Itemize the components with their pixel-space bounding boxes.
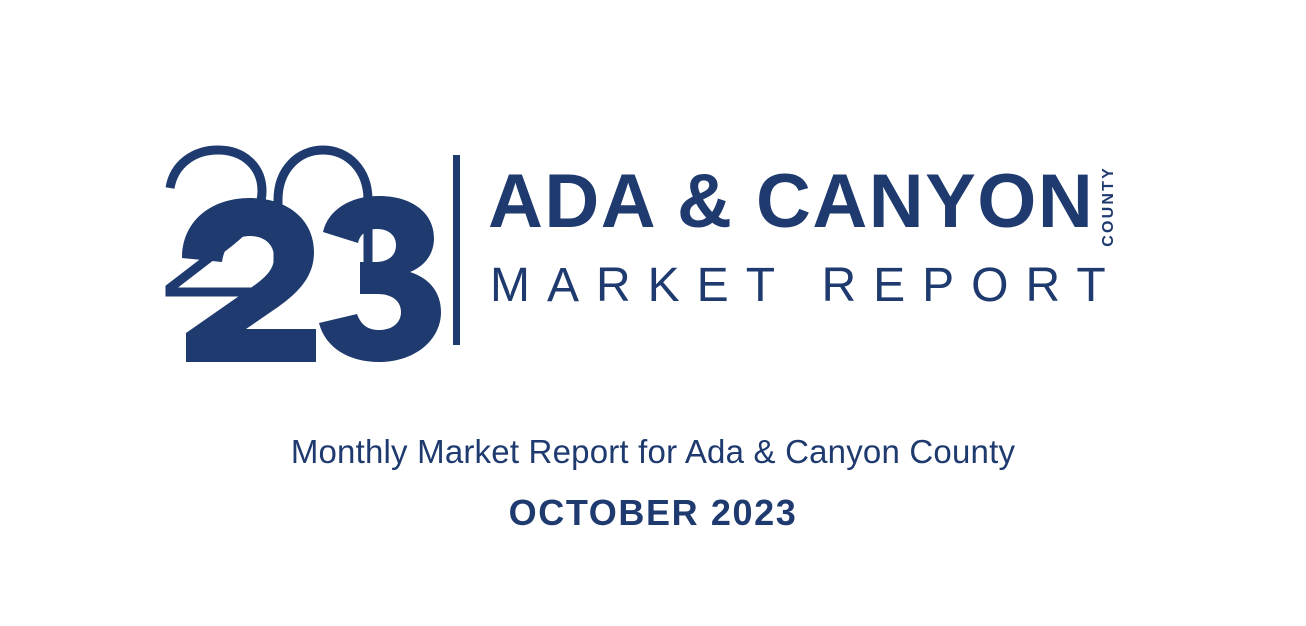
- report-cover-page: ADA & CANYON COUNTY MARKET REPORT Monthl…: [0, 0, 1306, 626]
- logo-year-mark-svg: [160, 140, 450, 362]
- wordmark-primary-row: ADA & CANYON COUNTY: [488, 160, 1117, 244]
- brand-logo-lockup: ADA & CANYON COUNTY MARKET REPORT: [0, 130, 1306, 362]
- report-subtitle: Monthly Market Report for Ada & Canyon C…: [0, 430, 1306, 474]
- report-date: OCTOBER 2023: [0, 491, 1306, 535]
- cover-caption-block: Monthly Market Report for Ada & Canyon C…: [0, 430, 1306, 535]
- wordmark-secondary-text: MARKET REPORT: [490, 258, 1123, 314]
- wordmark-primary-text: ADA & CANYON: [488, 160, 1094, 244]
- wordmark-county-text: COUNTY: [1101, 166, 1117, 247]
- logo-year-mark: [160, 140, 450, 362]
- solid-digit-2: [182, 198, 316, 362]
- logo-divider-rule: [453, 155, 460, 345]
- solid-digit-3: [319, 196, 441, 362]
- brand-wordmark: ADA & CANYON COUNTY MARKET REPORT: [488, 130, 1188, 362]
